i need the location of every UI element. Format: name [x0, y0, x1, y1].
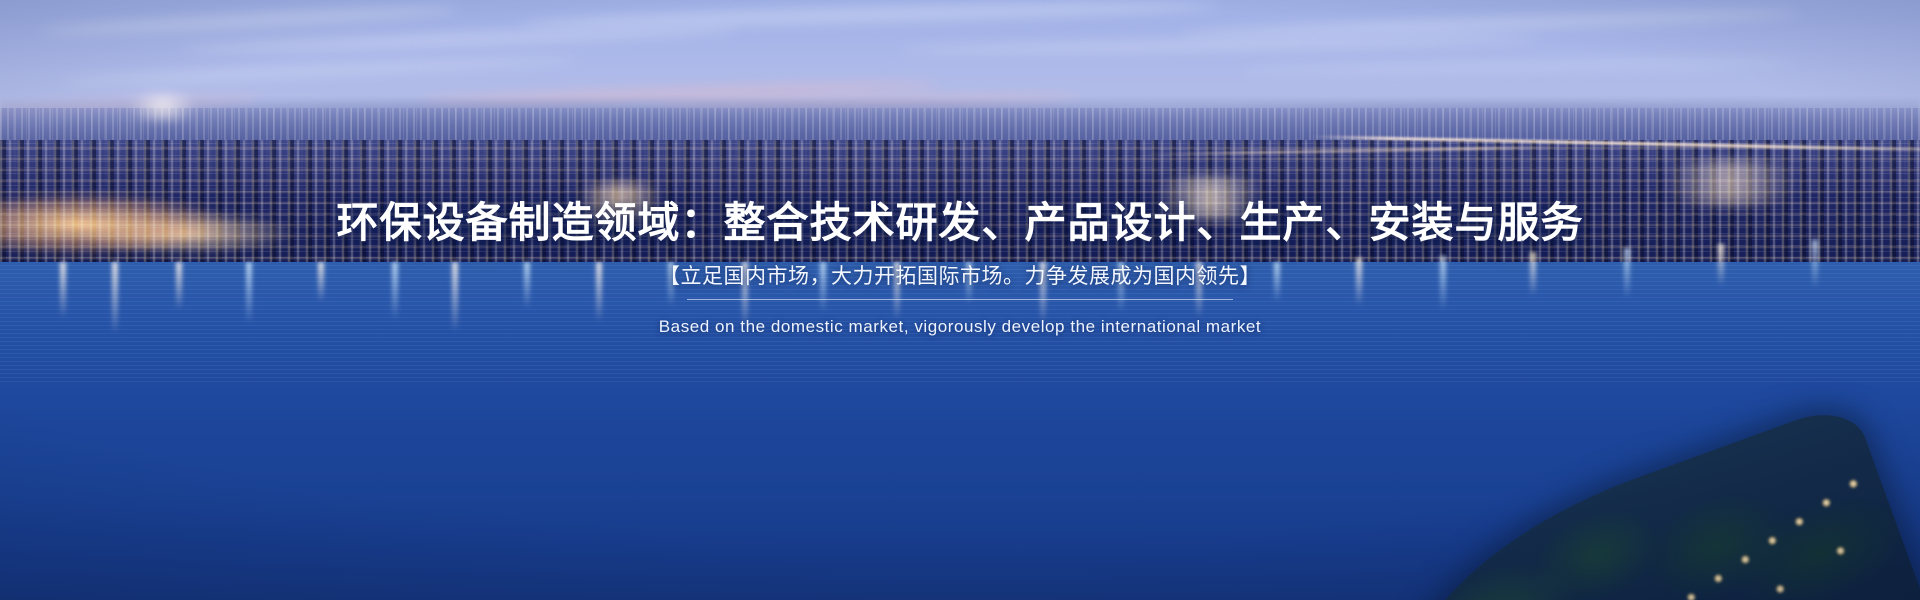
city-glow-cluster-b — [1135, 176, 1285, 220]
city-glow-cluster-d — [118, 94, 208, 120]
water-shimmer — [0, 262, 1920, 382]
hero-banner: 环保设备制造领域：整合技术研发、产品设计、生产、安装与服务 【立足国内市场，大力… — [0, 0, 1920, 600]
city-glow-cluster-c — [1640, 160, 1820, 206]
city-glow-cluster-a — [560, 182, 680, 222]
golden-highway-lights — [0, 186, 310, 262]
